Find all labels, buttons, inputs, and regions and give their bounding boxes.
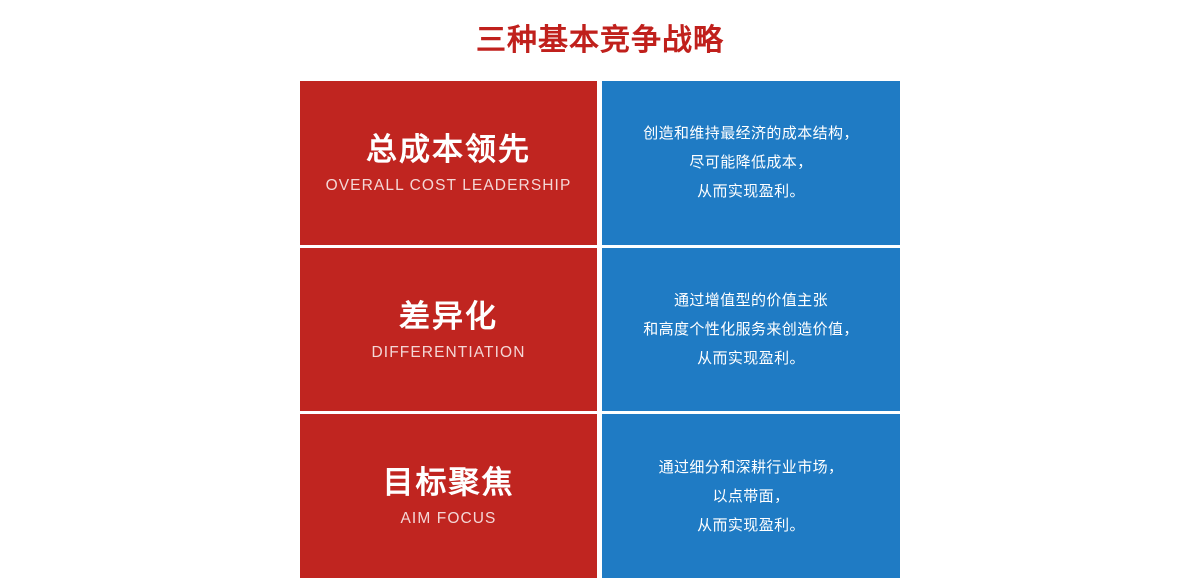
matrix-row: 总成本领先 OVERALL COST LEADERSHIP 创造和维持最经济的成… — [300, 81, 900, 245]
description-line: 从而实现盈利。 — [697, 511, 805, 540]
description-line: 创造和维持最经济的成本结构， — [643, 119, 859, 148]
strategy-name-cn: 目标聚焦 — [383, 462, 515, 504]
competitive-strategy-matrix: 总成本领先 OVERALL COST LEADERSHIP 创造和维持最经济的成… — [300, 81, 900, 578]
strategy-cell-differentiation: 差异化 DIFFERENTIATION — [300, 248, 597, 412]
strategy-name-cn: 总成本领先 — [366, 129, 531, 171]
description-line: 尽可能降低成本， — [689, 148, 812, 177]
strategy-name-en: AIM FOCUS — [400, 508, 496, 530]
matrix-row: 差异化 DIFFERENTIATION 通过增值型的价值主张 和高度个性化服务来… — [300, 248, 900, 412]
matrix-row: 目标聚焦 AIM FOCUS 通过细分和深耕行业市场， 以点带面， 从而实现盈利… — [300, 414, 900, 578]
description-line: 以点带面， — [712, 482, 789, 511]
description-line: 从而实现盈利。 — [697, 177, 805, 206]
description-cell-differentiation: 通过增值型的价值主张 和高度个性化服务来创造价值， 从而实现盈利。 — [602, 248, 900, 412]
description-line: 和高度个性化服务来创造价值， — [643, 315, 859, 344]
strategy-cell-overall-cost-leadership: 总成本领先 OVERALL COST LEADERSHIP — [300, 81, 597, 245]
strategy-name-en: DIFFERENTIATION — [372, 342, 526, 364]
description-cell-overall-cost-leadership: 创造和维持最经济的成本结构， 尽可能降低成本， 从而实现盈利。 — [602, 81, 900, 245]
description-line: 通过增值型的价值主张 — [674, 286, 828, 315]
description-cell-aim-focus: 通过细分和深耕行业市场， 以点带面， 从而实现盈利。 — [602, 414, 900, 578]
strategy-cell-aim-focus: 目标聚焦 AIM FOCUS — [300, 414, 597, 578]
description-line: 从而实现盈利。 — [697, 344, 805, 373]
strategy-name-en: OVERALL COST LEADERSHIP — [326, 175, 572, 197]
strategy-name-cn: 差异化 — [399, 296, 498, 338]
page-title: 三种基本竞争战略 — [0, 18, 1200, 64]
description-line: 通过细分和深耕行业市场， — [659, 453, 844, 482]
